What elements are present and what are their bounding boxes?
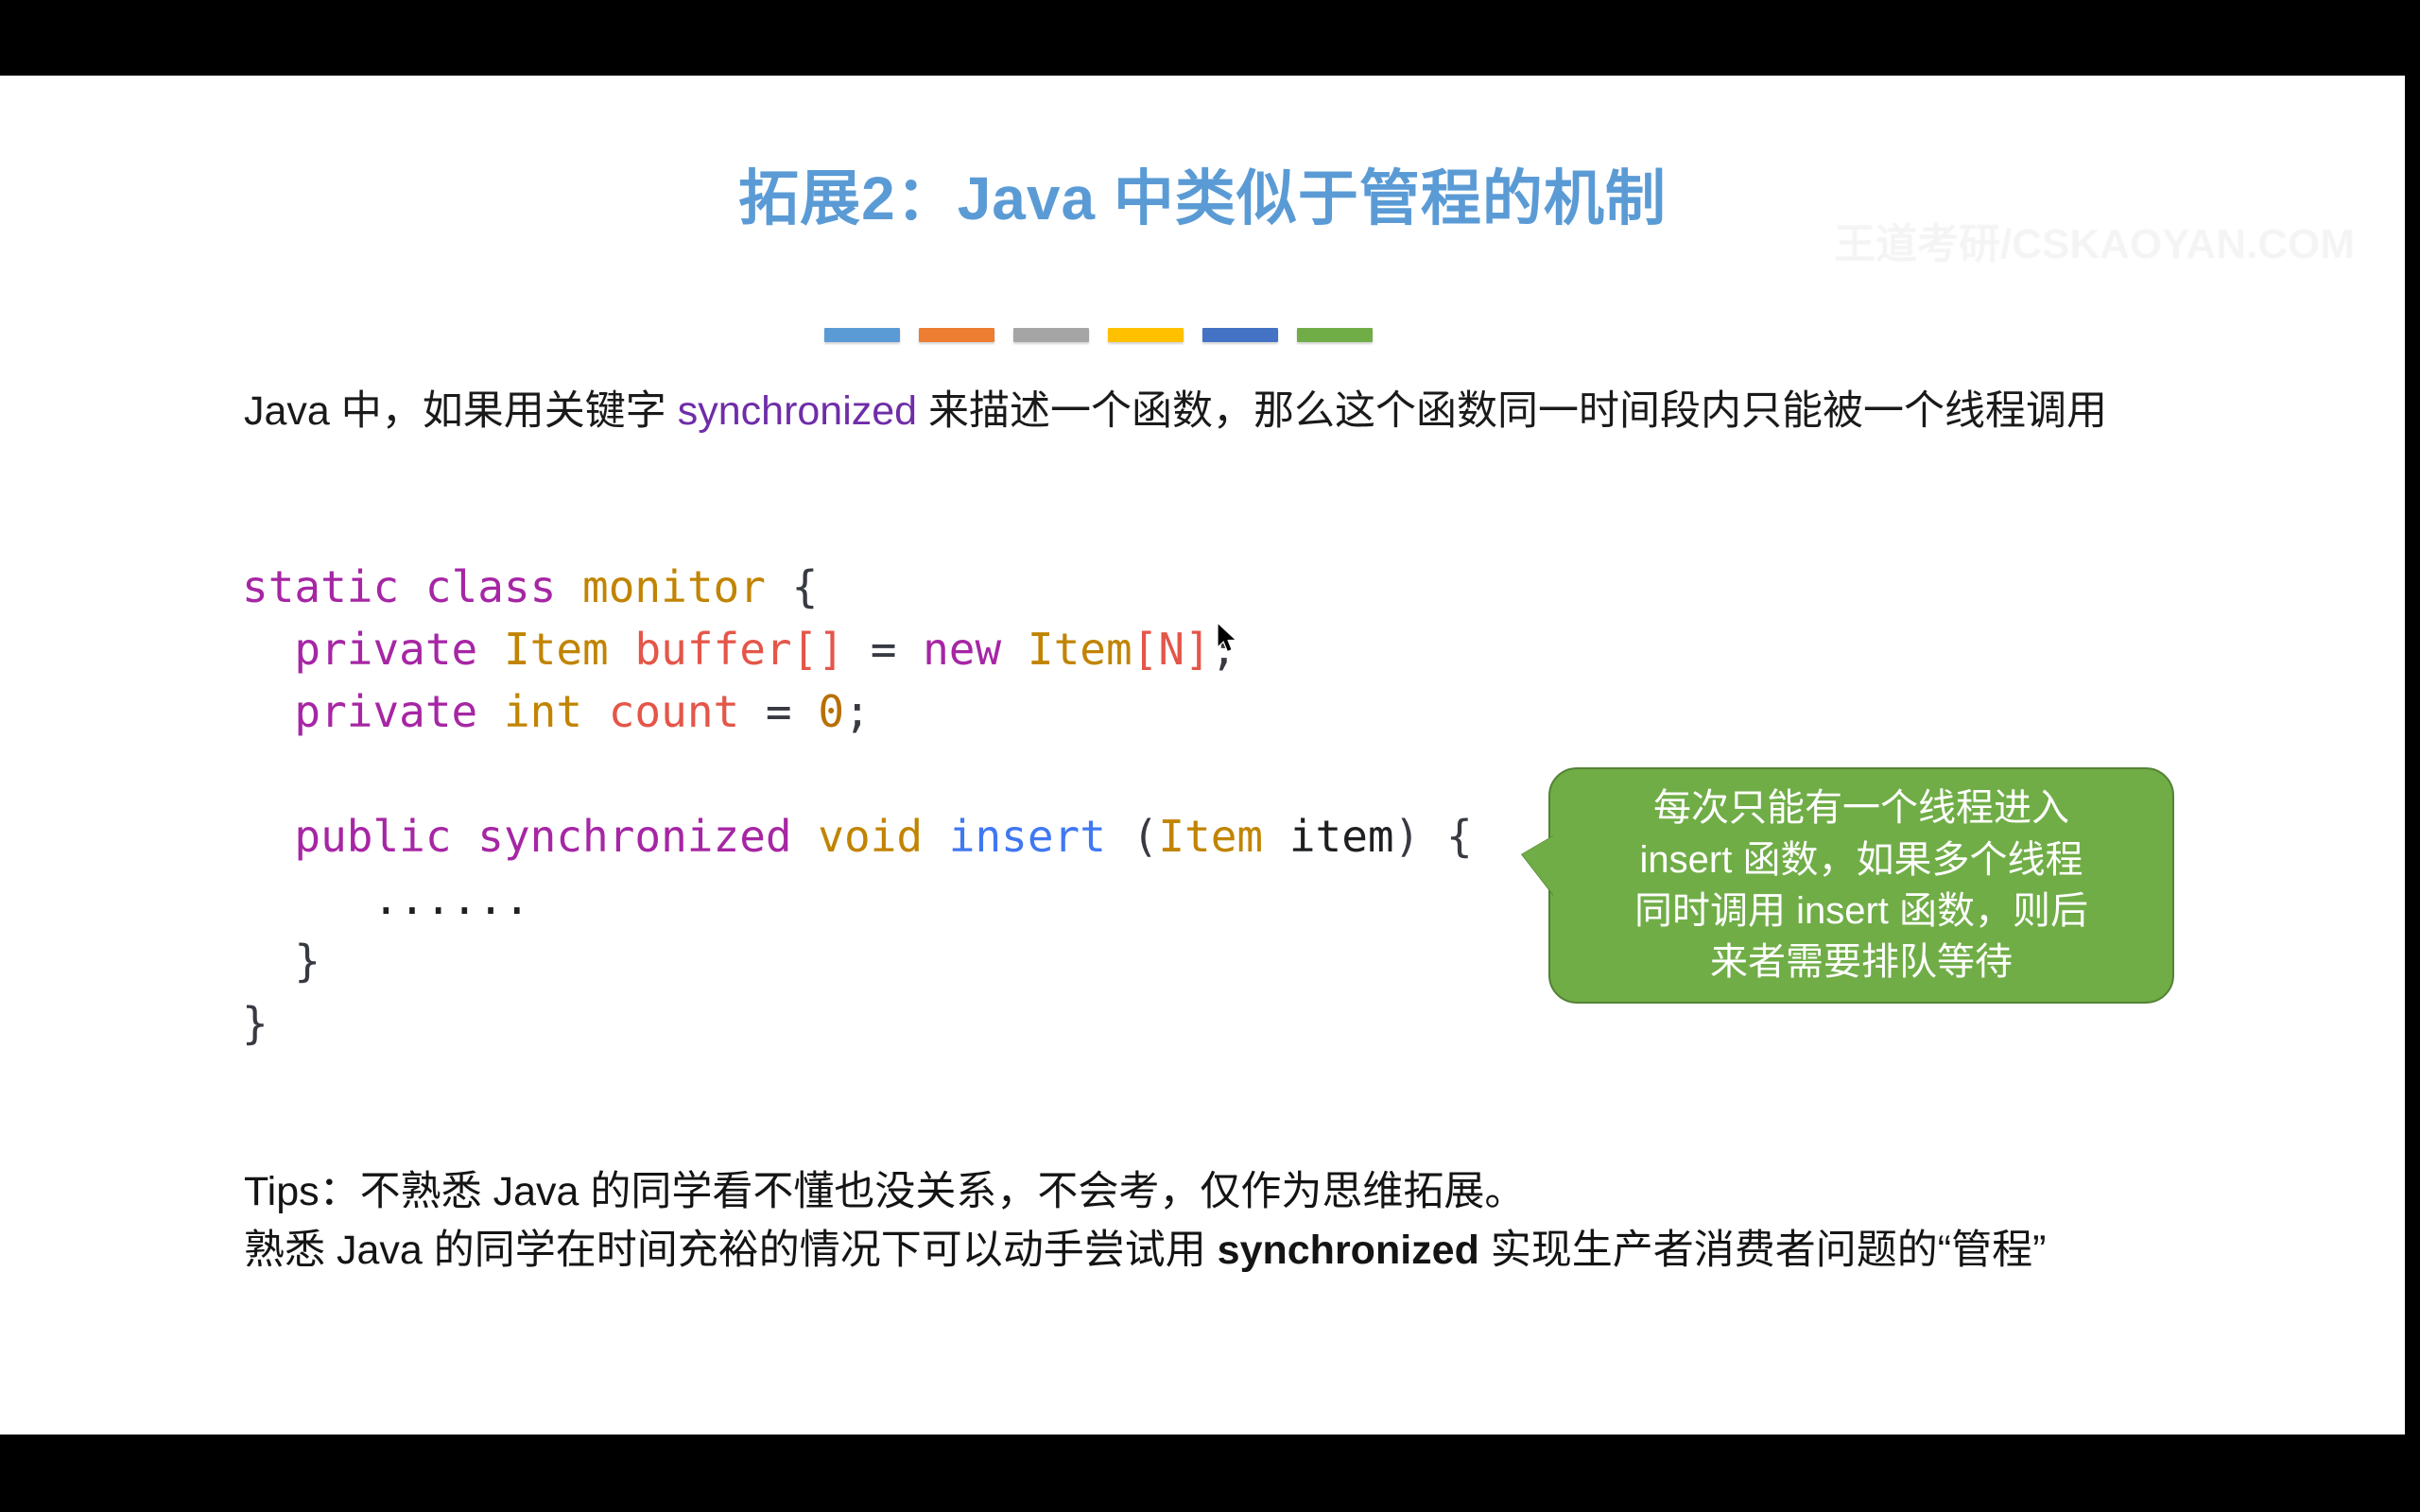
callout-line: 同时调用 insert 函数，则后 xyxy=(1634,885,2088,936)
code-token: synchronized xyxy=(477,811,818,862)
code-token: ( xyxy=(1106,811,1158,862)
bar-green xyxy=(1297,328,1373,342)
code-token: class xyxy=(425,561,582,612)
brand-watermark: 王道考研/CSKAOYAN.COM xyxy=(1808,1427,2384,1435)
code-token xyxy=(242,748,268,799)
code-token: private xyxy=(242,686,504,737)
right-letterbox-strip xyxy=(2405,76,2420,1435)
code-token: ; xyxy=(1211,624,1237,675)
code-token: private xyxy=(242,624,504,675)
intro-paragraph: Java 中，如果用关键字 synchronized 来描述一个函数，那么这个函… xyxy=(244,383,2201,441)
code-token: ...... xyxy=(242,873,530,924)
callout-text: 每次只能有一个线程进入insert 函数，如果多个线程同时调用 insert 函… xyxy=(1614,782,2109,988)
code-token: ) { xyxy=(1394,811,1473,862)
code-token: } xyxy=(242,998,268,1049)
title-underline-color-bars xyxy=(824,328,1373,342)
intro-text-part1: Java 中，如果用关键字 xyxy=(244,388,678,434)
code-token: count xyxy=(609,686,739,737)
callout-line: 每次只能有一个线程进入 xyxy=(1634,782,2088,833)
code-token: Item xyxy=(1158,811,1288,862)
intro-text-part2: 来描述一个函数，那么这个函数同一时间段内只能被一个线程调用 xyxy=(917,388,2107,434)
tips-block: Tips：不熟悉 Java 的同学看不懂也没关系，不会考，仅作为思维拓展。熟悉 … xyxy=(244,1162,2267,1280)
code-line: private int count = 0; xyxy=(242,680,1473,743)
bar-darkblue xyxy=(1202,328,1278,342)
code-line: static class monitor { xyxy=(242,556,1473,618)
tips-line2-after: 实现生产者消费者问题的“管程” xyxy=(1479,1228,2047,1273)
code-token: static xyxy=(242,561,425,612)
code-line xyxy=(242,743,1473,805)
code-line: private Item buffer[] = new Item[N]; xyxy=(242,618,1473,680)
code-token: { xyxy=(766,561,818,612)
code-token: monitor xyxy=(582,561,766,612)
code-token: insert xyxy=(949,811,1106,862)
code-token: 0 xyxy=(818,686,844,737)
code-line: ...... xyxy=(242,868,1473,930)
code-token: = xyxy=(844,624,923,675)
code-token: = xyxy=(739,686,818,737)
annotation-callout: 每次只能有一个线程进入insert 函数，如果多个线程同时调用 insert 函… xyxy=(1522,767,2174,1004)
code-token: int xyxy=(504,686,609,737)
bar-gray xyxy=(1013,328,1089,342)
title-block: 拓展2：Java 中类似于管程的机制 xyxy=(0,165,2405,233)
callout-bubble-body: 每次只能有一个线程进入insert 函数，如果多个线程同时调用 insert 函… xyxy=(1548,767,2174,1004)
code-line: } xyxy=(242,992,1473,1055)
code-line: } xyxy=(242,930,1473,992)
code-line: public synchronized void insert (Item it… xyxy=(242,805,1473,868)
code-token: buffer[] xyxy=(634,624,844,675)
callout-tail-pointer xyxy=(1522,835,1554,896)
callout-line: insert 函数，如果多个线程 xyxy=(1634,834,2088,885)
presentation-slide: 王道考研/CSKAOYAN.COM 拓展2：Java 中类似于管程的机制 Jav… xyxy=(0,76,2405,1435)
code-token: Item xyxy=(1028,624,1132,675)
tips-line2-before: 熟悉 Java 的同学在时间充裕的情况下可以动手尝试用 xyxy=(244,1228,1218,1273)
tips-line-1: Tips：不熟悉 Java 的同学看不懂也没关系，不会考，仅作为思维拓展。 xyxy=(244,1162,2267,1221)
code-token: Item xyxy=(504,624,634,675)
code-token: public xyxy=(242,811,477,862)
intro-keyword-synchronized: synchronized xyxy=(678,388,917,434)
java-code-snippet: static class monitor { private Item buff… xyxy=(242,556,1473,1055)
code-token: } xyxy=(242,936,320,987)
code-token: ; xyxy=(844,686,871,737)
bar-orange xyxy=(919,328,994,342)
code-token: new xyxy=(923,624,1028,675)
bar-yellow xyxy=(1108,328,1184,342)
code-token: item xyxy=(1289,811,1394,862)
tips-keyword-synchronized: synchronized xyxy=(1218,1228,1479,1273)
page-title: 拓展2：Java 中类似于管程的机制 xyxy=(0,165,2405,233)
code-token: void xyxy=(818,811,948,862)
video-player-viewport: 王道考研/CSKAOYAN.COM 拓展2：Java 中类似于管程的机制 Jav… xyxy=(0,0,2420,1512)
bar-blue xyxy=(824,328,900,342)
callout-line: 来者需要排队等待 xyxy=(1634,936,2088,988)
code-token: [N] xyxy=(1132,624,1211,675)
tips-line-2: 熟悉 Java 的同学在时间充裕的情况下可以动手尝试用 synchronized… xyxy=(244,1221,2267,1280)
